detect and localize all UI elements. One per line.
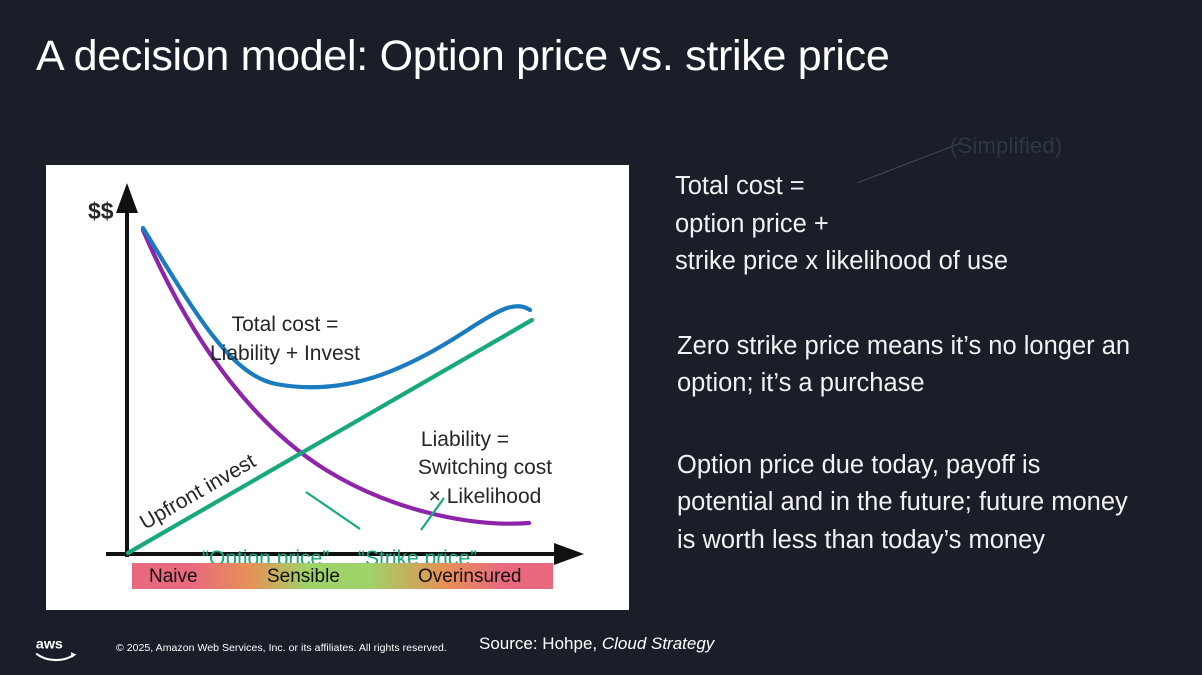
x-axis-arrowhead [554,543,584,565]
aws-logo-wordmark: aws [36,637,63,653]
body-text-panel: Total cost = option price + strike price… [675,168,1195,559]
chart-svg: $$ Total cost = Liability + Invest Liabi… [46,165,629,610]
formula-line-2: option price + [675,206,1195,244]
y-axis-label: $$ [88,198,114,224]
band-label-overinsured: Overinsured [418,566,522,587]
copyright-text: © 2025, Amazon Web Services, Inc. or its… [116,642,447,654]
source-prefix: Source: Hohpe, [479,634,602,653]
annotation-liability-line1: Liability = [421,428,509,451]
annotation-total-cost-line2: Liability + Invest [210,342,360,365]
chart-panel: $$ Total cost = Liability + Invest Liabi… [46,165,629,610]
page-title: A decision model: Option price vs. strik… [36,32,889,81]
formula-line-3: strike price x likelihood of use [675,243,1195,281]
annotation-liability-line2: Switching cost [418,456,552,479]
body-paragraph-formula: Total cost = option price + strike price… [675,168,1195,281]
slide-root: A decision model: Option price vs. strik… [0,0,1202,675]
annotation-total-cost-line1: Total cost = [232,313,339,336]
body-paragraph-option-timing: Option price due today, payoff is potent… [677,447,1132,560]
band-label-sensible: Sensible [267,566,340,587]
y-axis-arrowhead [116,183,138,213]
formula-line-1: Total cost = [675,168,1195,206]
annotation-liability-line3: × Likelihood [429,485,542,508]
band-label-naive: Naive [149,566,198,587]
annotation-upfront-invest: Upfront invest [136,450,260,535]
body-paragraph-zero-strike: Zero strike price means it’s no longer a… [677,328,1193,403]
source-citation: Source: Hohpe, Cloud Strategy [479,634,714,654]
source-book-title: Cloud Strategy [602,634,714,653]
option-price-leader-line [306,492,360,529]
aws-logo: aws [35,634,81,664]
simplified-annotation: (Simplified) [950,133,1062,159]
